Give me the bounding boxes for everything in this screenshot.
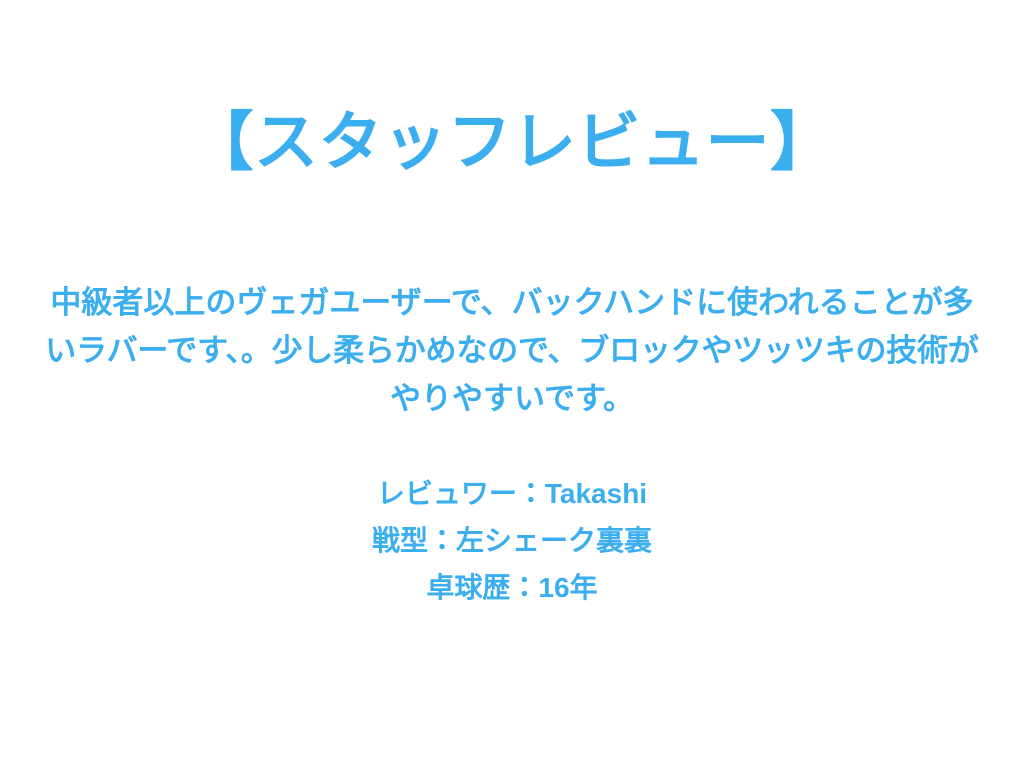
title-container: 【スタッフレビュー】 [0, 110, 1024, 174]
review-body-line-3: やりやすいです。 [0, 375, 1024, 423]
reviewer-playstyle: 戦型：左シェーク裏裏 [0, 517, 1024, 564]
reviewer-experience: 卓球歴：16年 [0, 564, 1024, 611]
reviewer-info: レビュワー：Takashi 戦型：左シェーク裏裏 卓球歴：16年 [0, 470, 1024, 611]
review-body: 中級者以上のヴェガユーザーで、バックハンドに使われることが多 いラバーです、。少… [0, 279, 1024, 423]
page-title: 【スタッフレビュー】 [190, 110, 835, 174]
review-body-line-2: いラバーです、。少し柔らかめなので、ブロックやツッツキの技術が [0, 327, 1024, 375]
review-body-line-1: 中級者以上のヴェガユーザーで、バックハンドに使われることが多 [0, 279, 1024, 327]
staff-review-slide: 【スタッフレビュー】 中級者以上のヴェガユーザーで、バックハンドに使われることが… [0, 0, 1024, 768]
reviewer-name: レビュワー：Takashi [0, 470, 1024, 517]
